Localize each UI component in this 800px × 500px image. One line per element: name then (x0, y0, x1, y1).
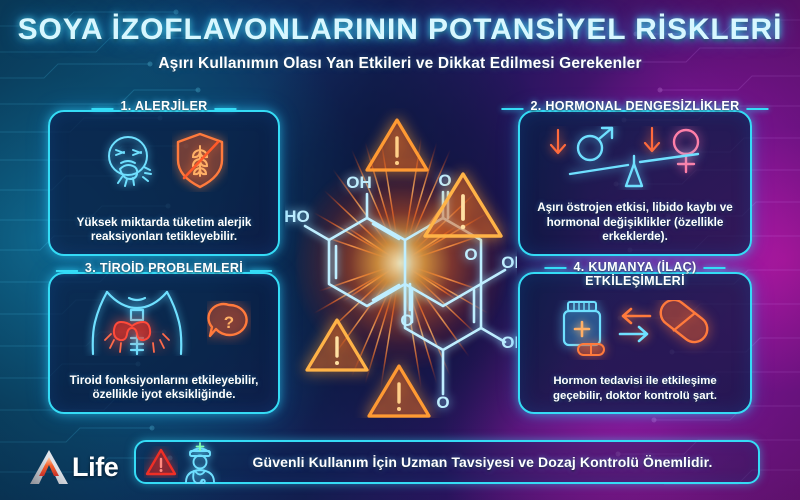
molecule-label-o-ring: O (464, 245, 477, 264)
exchange-arrows-icon (620, 309, 650, 341)
card-title-line2: ETKİLEŞİMLERİ (585, 274, 685, 288)
card-icons (520, 126, 750, 190)
female-symbol-icon (674, 130, 698, 172)
advice-banner-text: Güvenli Kullanım İçin Uzman Tavsiyesi ve… (221, 454, 758, 470)
card-body-text: Tiroid fonksiyonlarını etkileyebilir, öz… (59, 374, 269, 403)
shield-wheat-allergen-icon (172, 130, 228, 192)
question-bubble-icon: ? (207, 301, 251, 345)
molecule-label-oh-1: OH (346, 173, 372, 192)
molecule-label-oh-2: OH (501, 253, 517, 272)
center-molecule-panel: OH HO O O O OH OH O (285, 108, 517, 418)
thyroid-neck-icon (77, 290, 197, 356)
brand-logo[interactable]: Life (28, 448, 118, 486)
advice-banner[interactable]: Güvenli Kullanım İçin Uzman Tavsiyesi ve… (134, 440, 760, 484)
card-body-text: Yüksek miktarda tüketim alerjik reaksiyo… (59, 216, 269, 245)
card-title: 2. HORMONAL DENGESİZLİKLER (521, 99, 748, 113)
footer: Life (0, 428, 800, 500)
molecule-label-o-3: O (436, 393, 449, 412)
card-body-text: Hormon tedavisi ile etkileşime geçebilir… (529, 374, 741, 403)
capsule-icon (656, 300, 713, 347)
warning-triangle-icon (144, 446, 178, 478)
molecule-label-o-2: O (400, 311, 413, 330)
isoflavone-molecule-icon: OH HO O O O OH OH O (285, 108, 517, 418)
warning-triangle-icon (369, 366, 429, 416)
molecule-label-ho: HO (285, 207, 310, 226)
drug-interaction-icons (550, 300, 720, 360)
infographic-root: SOYA İZOFLAVONLARININ POTANSİYEL RİSKLER… (0, 0, 800, 500)
sneezing-face-icon (100, 131, 162, 191)
molecule-label-o-1: O (438, 171, 451, 190)
card-thyroid-problems[interactable]: 3. TİROİD PROBLEMLERİ (48, 272, 280, 414)
warning-triangle-icon (367, 120, 427, 170)
card-icons: ? (50, 290, 278, 356)
pill-bottle-icon (564, 302, 600, 345)
card-body-text: Aşırı östrojen etkisi, libido kaybı ve h… (529, 201, 741, 245)
capsule-icon (578, 344, 604, 355)
hormone-balance-icons (540, 126, 730, 190)
warning-triangle-icon (425, 174, 501, 236)
down-arrow-icon (645, 128, 659, 151)
male-symbol-icon (578, 128, 612, 160)
brand-logo-text: Life (72, 454, 118, 481)
card-title: 1. ALERJİLER (111, 99, 216, 113)
card-title: 3. TİROİD PROBLEMLERİ (76, 261, 252, 275)
card-icons (50, 128, 278, 194)
a-chevron-logo-icon (28, 448, 70, 486)
banner-icons (144, 440, 221, 484)
page-title: SOYA İZOFLAVONLARININ POTANSİYEL RİSKLER… (0, 14, 800, 46)
card-title: 4. KUMANYA (İLAÇ) ETKİLEŞİMLERİ (564, 260, 705, 288)
card-hormonal-imbalance[interactable]: 2. HORMONAL DENGESİZLİKLER (518, 110, 752, 256)
card-icons (520, 300, 750, 360)
card-title-line1: 4. KUMANYA (İLAÇ) (573, 260, 696, 274)
doctor-icon (179, 440, 221, 484)
molecule-label-oh-3: OH (501, 333, 517, 352)
down-arrow-icon (551, 130, 565, 153)
warning-triangle-icon (307, 320, 367, 370)
card-drug-interactions[interactable]: 4. KUMANYA (İLAÇ) ETKİLEŞİMLERİ (518, 272, 752, 414)
page-subtitle: Aşırı Kullanımın Olası Yan Etkileri ve D… (0, 55, 800, 73)
header: SOYA İZOFLAVONLARININ POTANSİYEL RİSKLER… (0, 14, 800, 73)
svg-text:?: ? (224, 313, 234, 332)
card-allergies[interactable]: 1. ALERJİLER (48, 110, 280, 256)
